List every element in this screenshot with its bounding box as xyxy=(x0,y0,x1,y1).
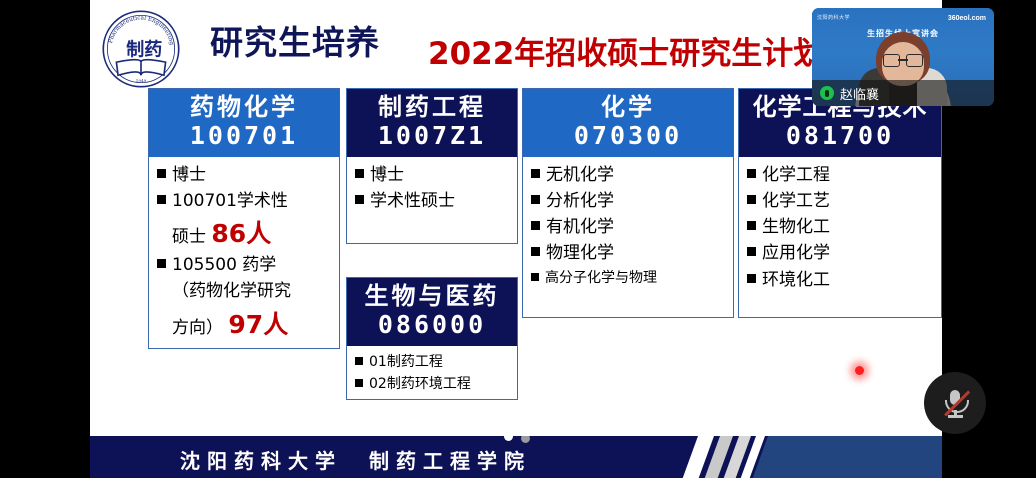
card-body: 博士 学术性硕士 xyxy=(347,157,517,243)
bullet-square-icon xyxy=(747,195,756,204)
bullet-square-icon xyxy=(531,273,539,281)
microphone-on-icon xyxy=(820,86,834,100)
list-item-label: 02制药环境工程 xyxy=(369,374,512,395)
list-item: 化学工程 xyxy=(747,163,936,188)
list-item: 博士 xyxy=(157,163,334,188)
video-bg-brand-text: 360eol.com xyxy=(948,15,986,22)
list-item-label: 应用化学 xyxy=(762,241,936,266)
bullet-square-icon xyxy=(355,379,363,387)
list-item: 应用化学 xyxy=(747,241,936,266)
program-name: 制药工程 xyxy=(347,93,517,122)
page-title: 研究生培养 xyxy=(210,16,380,64)
svg-text:1949: 1949 xyxy=(136,78,147,83)
list-item: 01制药工程 xyxy=(355,352,512,373)
list-item: 无机化学 xyxy=(531,163,728,188)
list-item: 物理化学 xyxy=(531,241,728,266)
list-item-label: （药物化学研究 xyxy=(172,279,334,304)
list-item-label: 无机化学 xyxy=(546,163,728,188)
list-item-label: 方向） xyxy=(172,318,228,338)
bullet-square-icon xyxy=(157,169,166,178)
list-item-label: 分析化学 xyxy=(546,189,728,214)
bullet-square-icon xyxy=(355,357,363,365)
bullet-square-icon xyxy=(157,195,166,204)
bullet-square-icon xyxy=(531,169,540,178)
slide-footer: 沈阳药科大学 制药工程学院 xyxy=(90,436,942,478)
list-item: 环境化工 xyxy=(747,268,936,293)
program-code: 086000 xyxy=(347,311,517,340)
list-item: 学术性硕士 xyxy=(355,189,512,214)
list-item: 100701学术性 xyxy=(157,189,334,214)
list-item-continuation: （药物化学研究 xyxy=(157,279,334,304)
video-bg-logo-text: 沈阳药科大学 xyxy=(817,14,850,21)
footer-dot xyxy=(504,436,513,441)
list-item-label: 化学工程 xyxy=(762,163,936,188)
list-item: 105500 药学 xyxy=(157,253,334,278)
program-code: 100701 xyxy=(149,122,339,151)
list-item-label: 01制药工程 xyxy=(369,352,512,373)
list-item-continuation: 硕士 86人 xyxy=(157,215,334,252)
list-item-label: 有机化学 xyxy=(546,215,728,240)
laser-pointer-dot xyxy=(855,366,864,375)
microphone-muted-icon xyxy=(942,388,968,418)
college-seal-logo-icon: Pharmaceutical Engineering College 制 药 1… xyxy=(100,8,182,90)
svg-text:药: 药 xyxy=(144,39,162,61)
card-body: 01制药工程 02制药环境工程 xyxy=(347,346,517,399)
quota-highlight: 97人 xyxy=(228,310,288,339)
footer-dot xyxy=(521,436,530,443)
speaker-name: 赵临襄 xyxy=(840,84,879,103)
list-item-label: 高分子化学与物理 xyxy=(545,268,728,289)
list-item: 02制药环境工程 xyxy=(355,374,512,395)
speaker-video-tile[interactable]: 沈阳药科大学 360eol.com 生招生线上宣讲会 赵临襄 xyxy=(812,8,994,106)
quota-highlight: 86人 xyxy=(211,219,271,248)
microphone-mute-button[interactable] xyxy=(924,372,986,434)
bullet-square-icon xyxy=(747,274,756,283)
card-body: 无机化学 分析化学 有机化学 物理化学 高分子化学与物理 xyxy=(523,157,733,317)
list-item-label: 生物化工 xyxy=(762,215,936,240)
footer-panel xyxy=(748,436,942,478)
program-card-shengwu-yiyao: 生物与医药 086000 01制药工程 02制药环境工程 xyxy=(346,277,518,400)
card-body: 化学工程 化学工艺 生物化工 应用化学 环境化工 xyxy=(739,157,941,317)
screen-root: Pharmaceutical Engineering College 制 药 1… xyxy=(0,0,1036,478)
list-item-label: 环境化工 xyxy=(762,268,936,293)
program-name: 药物化学 xyxy=(149,93,339,122)
program-code: 1007Z1 xyxy=(347,122,517,151)
glasses-icon xyxy=(883,54,923,65)
list-item-label: 硕士 xyxy=(172,227,211,247)
program-code: 081700 xyxy=(739,122,941,151)
list-item-label: 化学工艺 xyxy=(762,189,936,214)
list-item: 分析化学 xyxy=(531,189,728,214)
bullet-square-icon xyxy=(747,221,756,230)
card-header: 药物化学 100701 xyxy=(149,89,339,157)
footer-label: 沈阳药科大学 制药工程学院 xyxy=(180,445,531,474)
list-item: 化学工艺 xyxy=(747,189,936,214)
list-item-continuation: 方向） 97人 xyxy=(157,306,334,343)
svg-text:制: 制 xyxy=(126,39,144,61)
program-card-huaxue: 化学 070300 无机化学 分析化学 有机化学 物理化学 xyxy=(522,88,734,318)
card-header: 制药工程 1007Z1 xyxy=(347,89,517,157)
program-name: 化学 xyxy=(523,93,733,122)
card-body: 博士 100701学术性 硕士 86人 105500 药学 （药物化学研究 xyxy=(149,157,339,348)
list-item-label: 博士 xyxy=(172,163,334,188)
card-header: 生物与医药 086000 xyxy=(347,278,517,346)
list-item-label: 物理化学 xyxy=(546,241,728,266)
bullet-square-icon xyxy=(747,247,756,256)
list-item-label: 105500 药学 xyxy=(172,253,334,278)
list-item: 高分子化学与物理 xyxy=(531,268,728,289)
list-item: 博士 xyxy=(355,163,512,188)
list-item-label: 博士 xyxy=(370,163,512,188)
bullet-square-icon xyxy=(355,169,364,178)
bullet-square-icon xyxy=(531,195,540,204)
bullet-square-icon xyxy=(747,169,756,178)
speaker-name-bar: 赵临襄 xyxy=(812,80,994,106)
bullet-square-icon xyxy=(355,195,364,204)
bullet-square-icon xyxy=(157,259,166,268)
program-card-zhiyao-gongcheng: 制药工程 1007Z1 博士 学术性硕士 xyxy=(346,88,518,244)
bullet-square-icon xyxy=(531,221,540,230)
program-code: 070300 xyxy=(523,122,733,151)
card-header: 化学 070300 xyxy=(523,89,733,157)
list-item: 生物化工 xyxy=(747,215,936,240)
list-item-label: 100701学术性 xyxy=(172,189,334,214)
program-name: 生物与医药 xyxy=(347,282,517,311)
page-subtitle: 2022年招收硕士研究生计划 xyxy=(428,28,824,73)
bullet-square-icon xyxy=(531,247,540,256)
program-card-huaxue-gongcheng-jishu: 化学工程与技术 081700 化学工程 化学工艺 生物化工 应 xyxy=(738,88,942,318)
program-card-yaowu-huaxue: 药物化学 100701 博士 100701学术性 硕士 86人 105500 药… xyxy=(148,88,340,349)
list-item-label: 学术性硕士 xyxy=(370,189,512,214)
list-item: 有机化学 xyxy=(531,215,728,240)
